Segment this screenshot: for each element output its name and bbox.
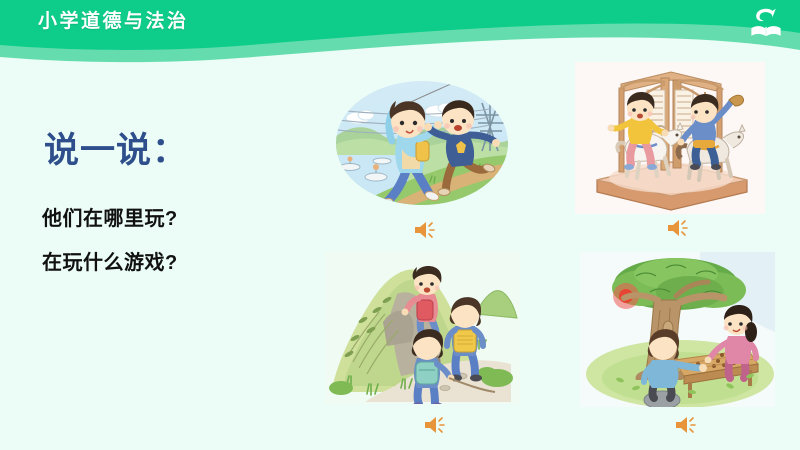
header-title: 小学道德与法治 bbox=[38, 6, 189, 33]
question-item: 他们在哪里玩? bbox=[42, 202, 178, 231]
picture-carousel-ride[interactable] bbox=[575, 62, 765, 214]
question-list: 他们在哪里玩? 在玩什么游戏? bbox=[42, 202, 178, 275]
speaker-icon-carousel-ride[interactable] bbox=[665, 217, 691, 239]
page-title: 说一说： bbox=[44, 122, 188, 173]
slide-root: 小学道德与法治 说一说： 他们在哪里玩? 在玩什么游戏? bbox=[0, 0, 800, 450]
speaker-icon-kite-flying[interactable] bbox=[412, 219, 438, 241]
speaker-icon-board-game-under-tree[interactable] bbox=[673, 414, 699, 436]
picture-kite-flying[interactable] bbox=[330, 63, 515, 213]
question-item: 在玩什么游戏? bbox=[42, 246, 178, 275]
speaker-icon-mountain-climbing[interactable] bbox=[422, 414, 448, 436]
header-bar: 小学道德与法治 bbox=[0, 0, 800, 70]
picture-mountain-climbing[interactable] bbox=[325, 252, 520, 404]
book-logo-icon bbox=[749, 6, 783, 38]
picture-board-game-under-tree[interactable] bbox=[580, 252, 775, 407]
